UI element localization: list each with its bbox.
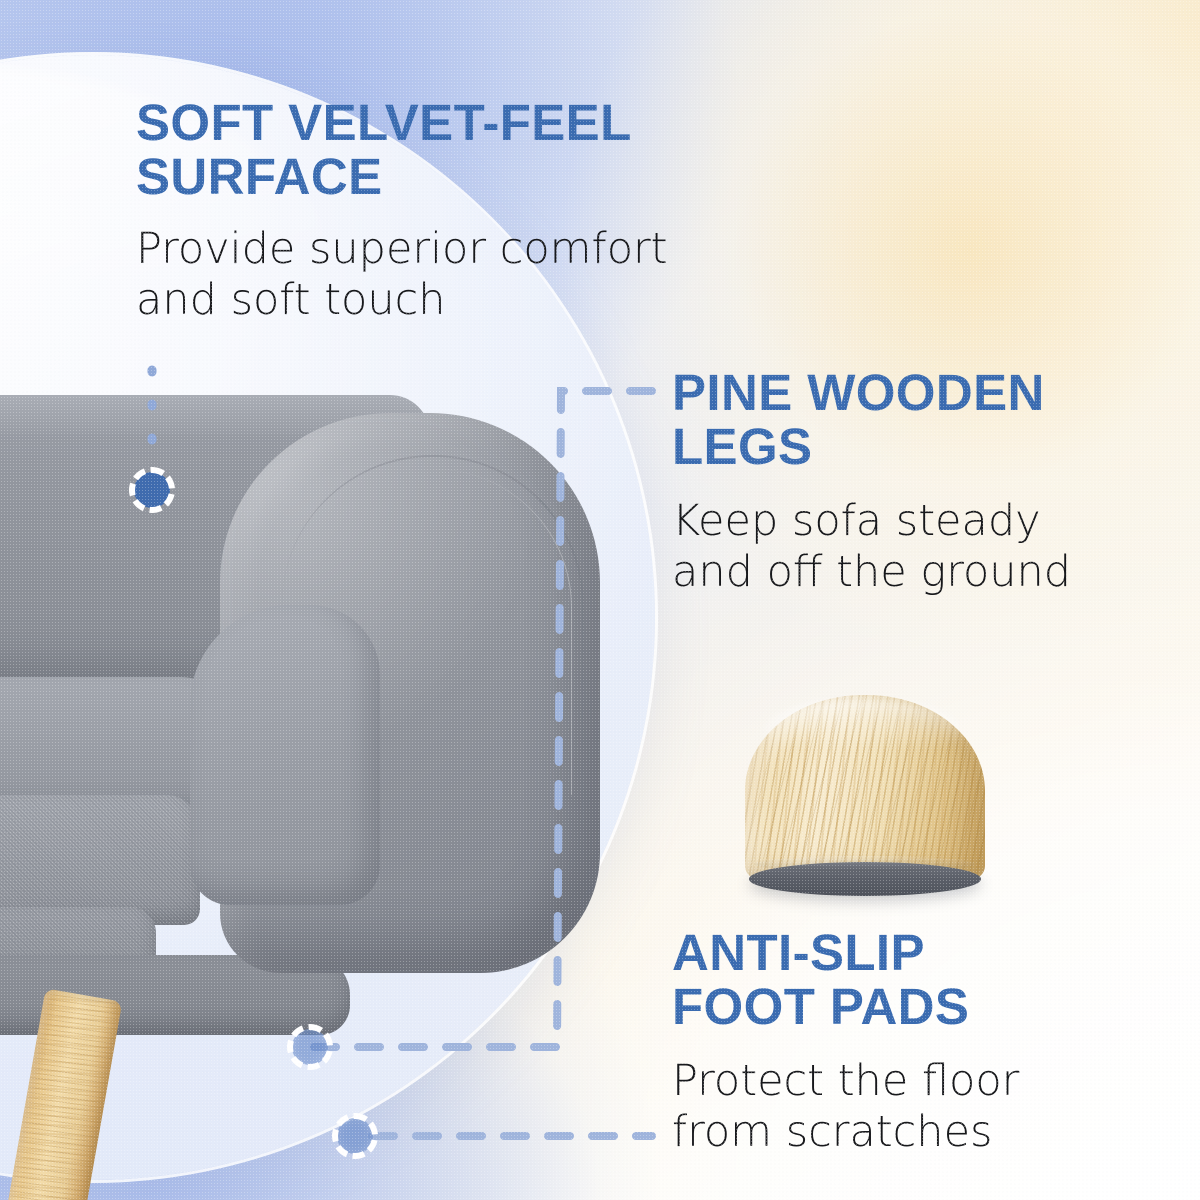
pads-marker-ring	[332, 1113, 378, 1159]
feature-block-legs: PINE WOODEN LEGS Keep sofa steady and of…	[672, 366, 1172, 598]
feature-heading-velvet: SOFT VELVET-FEEL SURFACE	[136, 96, 836, 204]
velvet-marker[interactable]	[129, 467, 175, 513]
velvet-marker-ring	[129, 467, 175, 513]
feature-heading-legs: PINE WOODEN LEGS	[672, 366, 1172, 474]
sofa-product-image	[0, 395, 600, 1075]
infographic-canvas: SOFT VELVET-FEEL SURFACE Provide superio…	[0, 0, 1200, 1200]
legs-marker[interactable]	[287, 1024, 333, 1070]
legs-marker-ring	[287, 1024, 333, 1070]
anti-slip-pad-edge	[755, 856, 975, 872]
feature-body-velvet: Provide superior comfort and soft touch	[136, 224, 836, 325]
feature-body-legs: Keep sofa steady and off the ground	[672, 496, 1172, 597]
feature-heading-pads: ANTI-SLIP FOOT PADS	[672, 926, 1172, 1034]
feature-block-pads: ANTI-SLIP FOOT PADS Protect the floor fr…	[672, 926, 1172, 1158]
foot-pad-product-image	[745, 695, 985, 880]
sofa-cushion	[0, 795, 200, 925]
pads-marker[interactable]	[332, 1113, 378, 1159]
feature-block-velvet: SOFT VELVET-FEEL SURFACE Provide superio…	[136, 96, 836, 326]
foot-pad-highlight	[764, 699, 961, 762]
sofa-arm-inner	[190, 605, 380, 905]
feature-body-pads: Protect the floor from scratches	[672, 1056, 1172, 1157]
